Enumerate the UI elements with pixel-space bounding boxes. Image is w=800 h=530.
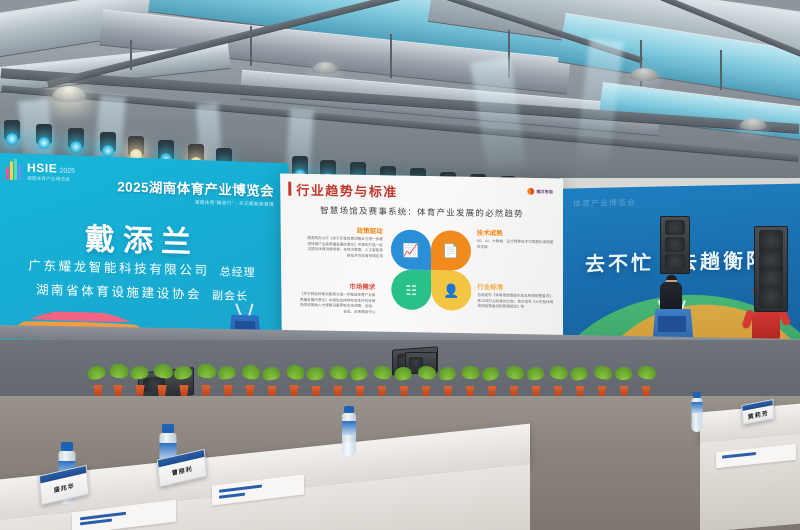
- potted-plant: [372, 368, 392, 396]
- potted-plant: [306, 369, 326, 396]
- quadrant-petal-policy: 📈: [391, 229, 431, 270]
- quadrant-title: 市场需求: [297, 280, 375, 291]
- speaker-affiliations: 广东耀龙智能科技有限公司总经理 湖南省体育设施建设协会副会长: [0, 254, 288, 311]
- quadrant-text-policy: 政策驱动 国务院办公厅《关于印发体育消费五力进一步推进体育产业高质量发展的意见》…: [305, 224, 383, 260]
- potted-plant: [416, 368, 436, 396]
- potted-plant: [614, 369, 634, 396]
- potted-plant: [240, 367, 260, 396]
- quadrant-text-market: 市场需求 《关于释放体育消费潜力进一步推进体育产业高质量发展的意见》中提到支持将…: [297, 280, 375, 316]
- potted-plant: [152, 366, 172, 396]
- water-bottle: [340, 406, 358, 456]
- affiliation-org: 广东耀龙智能科技有限公司: [28, 259, 209, 278]
- quadrant-body: 国务院办公厅《关于印发体育消费五力进一步推进体育产业高质量发展的意见》中提到打造…: [305, 236, 383, 260]
- potted-plant: [394, 369, 414, 396]
- potted-plant: [482, 369, 502, 396]
- pendant-lamp: [740, 118, 766, 130]
- potted-plant: [108, 366, 128, 396]
- potted-plant: [592, 368, 612, 396]
- affiliation-role: 副会长: [212, 290, 248, 303]
- conference-hall-photo: EXIT HSIE2025 湖南体育产业博览会 2025湖南体育产业博览会: [0, 0, 800, 530]
- monitor-chart-icon: 📈: [403, 243, 419, 256]
- potted-plant: [504, 368, 524, 396]
- potted-plant: [218, 368, 238, 396]
- potted-plant: [284, 367, 304, 396]
- potted-plant: [196, 366, 216, 396]
- hsie-logo: HSIE2025 湖南体育产业博览会: [6, 158, 75, 182]
- quadrant-text-technology: 技术成熟 5G、AI、大数据、云计算等技术为智慧化场馆提供支撑: [477, 227, 555, 251]
- potted-plant: [636, 368, 656, 396]
- potted-plant: [88, 368, 108, 396]
- quadrant-petal-technology: 📄: [431, 230, 471, 271]
- quadrant-title: 技术成熟: [477, 227, 555, 238]
- potted-plant: [438, 369, 458, 396]
- corporate-logo-text: 耀龙智能: [536, 188, 553, 194]
- line-array-speaker: [754, 226, 788, 312]
- potted-plant: [570, 369, 590, 396]
- hsie-logo-mark: [6, 158, 23, 181]
- slide-subtitle: 智慧场馆及赛事系统：体育产业发展的必然趋势: [280, 204, 563, 221]
- affiliation-org: 湖南省体育设施建设协会: [36, 283, 202, 302]
- quadrant-title: 政策驱动: [305, 224, 383, 235]
- expo-title-block: 2025湖南体育产业博览会 湖南体育"精准行" · 多元赋能体育强: [117, 175, 274, 208]
- expo-title: 2025湖南体育产业博览会: [117, 175, 274, 200]
- pendant-lamp: [312, 62, 338, 74]
- id-card-icon: 👤: [443, 284, 459, 297]
- pendant-lamp: [52, 86, 86, 102]
- placard-name: 曹丽利: [171, 463, 193, 477]
- support-rod: [720, 50, 722, 90]
- quadrant-body: 《关于释放体育消费潜力进一步推进体育产业高质量发展的意见》中提到支持将符合条件的…: [297, 292, 375, 316]
- hsie-acronym: HSIE: [27, 160, 57, 175]
- pendant-lamp: [630, 68, 658, 81]
- quadrant-text-standards: 行业标准 总局发布《体育场馆智能化信息系统配置要求》等10项行业标准的公告；地方…: [477, 281, 555, 311]
- potted-plant: [174, 368, 194, 396]
- potted-plant: [460, 368, 480, 396]
- potted-plant: [526, 369, 546, 396]
- potted-plant: [548, 368, 568, 396]
- water-bottle: [690, 392, 704, 432]
- hsie-subtitle: 湖南体育产业博览会: [27, 176, 75, 182]
- presentation-screen: 行业趋势与标准 耀龙智能 智慧场馆及赛事系统：体育产业发展的必然趋势 📈 📄 ☷: [280, 174, 565, 345]
- quadrant-diagram: 📈 📄 ☷ 👤: [389, 227, 474, 312]
- potted-plant: [328, 368, 348, 396]
- audience-foreground: 黄莉芳 盛兆华 曹丽利: [0, 396, 800, 530]
- document-icon: 📄: [443, 244, 459, 257]
- quadrant-petal-standards: 👤: [431, 270, 471, 311]
- potted-plant: [350, 369, 370, 396]
- slide-header: 行业趋势与标准: [296, 180, 398, 201]
- quadrant-title: 行业标准: [477, 281, 555, 292]
- quadrant-petal-market: ☷: [391, 269, 431, 310]
- corporate-logo-mark: [527, 188, 534, 195]
- grid-apps-icon: ☷: [405, 283, 417, 296]
- backdrop-ghost-text: 体育产业博览会: [573, 197, 636, 209]
- placard-name: 盛兆华: [53, 480, 75, 494]
- potted-plant-row: [88, 352, 708, 396]
- slide-accent-bar: [288, 182, 291, 196]
- quadrant-body: 5G、AI、大数据、云计算等技术为智慧化场馆提供支撑: [477, 239, 555, 251]
- support-rod: [508, 30, 510, 78]
- affiliation-role: 总经理: [220, 266, 256, 279]
- support-rod: [130, 40, 132, 70]
- support-rod: [250, 26, 252, 66]
- hsie-year: 2025: [59, 167, 75, 174]
- potted-plant: [130, 368, 150, 396]
- support-rod: [390, 34, 392, 78]
- placard-name: 黄莉芳: [747, 408, 769, 421]
- potted-plant: [262, 369, 282, 396]
- slide-corporate-logo: 耀龙智能: [527, 188, 553, 195]
- line-array-speaker: [660, 216, 690, 274]
- affiliation-row: 湖南省体育设施建设协会副会长: [0, 278, 288, 306]
- quadrant-body: 总局发布《体育场馆智能化信息系统配置要求》等10项行业标准的公告；地方发布《大中…: [477, 293, 555, 311]
